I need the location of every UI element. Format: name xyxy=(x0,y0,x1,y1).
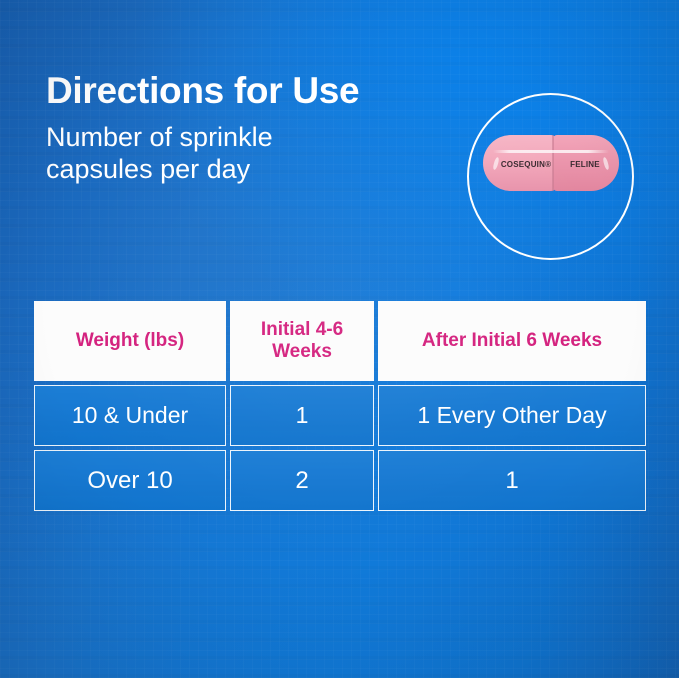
table-row: Over 10 2 1 xyxy=(34,450,646,511)
table-row: 10 & Under 1 1 Every Other Day xyxy=(34,385,646,446)
table-header-after-initial-weeks: After Initial 6 Weeks xyxy=(378,301,646,381)
table-header-row: Weight (lbs) Initial 4-6 Weeks After Ini… xyxy=(34,301,646,381)
capsule-species-label: FELINE xyxy=(561,160,609,169)
cell-weight: 10 & Under xyxy=(34,385,226,446)
capsule-brand-label: COSEQUIN® xyxy=(498,160,554,169)
capsule-pill-icon: COSEQUIN® FELINE xyxy=(483,135,619,191)
dosage-infographic: Directions for Use Number of sprinkle ca… xyxy=(0,0,679,678)
dosage-table: Weight (lbs) Initial 4-6 Weeks After Ini… xyxy=(34,301,646,511)
cell-after-initial-dose: 1 Every Other Day xyxy=(378,385,646,446)
cell-after-initial-dose: 1 xyxy=(378,450,646,511)
cell-weight: Over 10 xyxy=(34,450,226,511)
cell-initial-dose: 2 xyxy=(230,450,374,511)
page-title: Directions for Use xyxy=(46,72,446,111)
page-subtitle: Number of sprinkle capsules per day xyxy=(46,122,346,186)
headline-block: Directions for Use Number of sprinkle ca… xyxy=(46,72,446,186)
table-header-weight: Weight (lbs) xyxy=(34,301,226,381)
capsule-highlight xyxy=(493,150,609,153)
cell-initial-dose: 1 xyxy=(230,385,374,446)
table-header-initial-weeks: Initial 4-6 Weeks xyxy=(230,301,374,381)
